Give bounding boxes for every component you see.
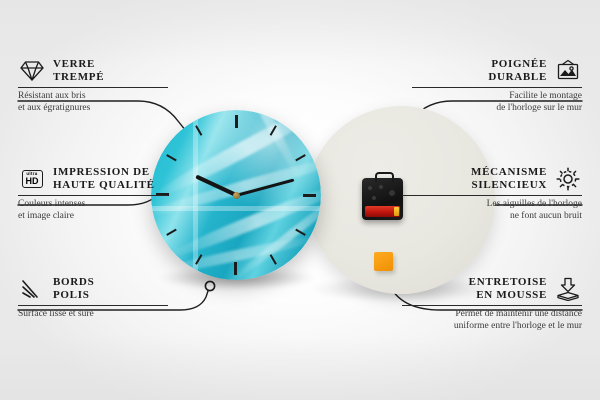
feature-entretoise-en-mousse: ENTRETOISE EN MOUSSE Permet de maintenir… xyxy=(402,276,582,332)
center-pin xyxy=(233,192,240,199)
feature-sub-line1: Les aiguilles de l'horloge xyxy=(487,199,582,209)
feature-mecanisme-silencieux: MÉCANISME SILENCIEUX Les aiguilles d xyxy=(402,166,582,222)
feature-sub-line2: ne font aucun bruit xyxy=(510,211,582,221)
feature-sub-line1: Surface lisse et sûre xyxy=(18,309,94,319)
divider xyxy=(402,195,582,196)
gear-icon xyxy=(554,166,582,192)
mechanism-detail xyxy=(366,184,399,204)
feature-title-line2: HAUTE QUALITÉ xyxy=(53,179,155,191)
feature-sub-line1: Permet de maintenir une distance xyxy=(455,309,582,319)
hour-mark xyxy=(236,194,321,196)
infographic-canvas: VERRE TREMPÉ Résistant aux bris et aux é… xyxy=(0,0,600,400)
feature-title-line2: EN MOUSSE xyxy=(476,289,547,301)
feature-title-line2: SILENCIEUX xyxy=(472,179,547,191)
feature-title-line1: VERRE xyxy=(53,58,95,70)
feature-bords-polis: BORDS POLIS Surface lisse et sûre xyxy=(18,276,168,321)
diamond-icon xyxy=(18,58,46,84)
framed-picture-hook-icon xyxy=(554,58,582,84)
battery-terminal xyxy=(394,207,399,216)
front-clock-body xyxy=(151,110,321,280)
feature-title-line1: ENTRETOISE xyxy=(469,276,547,288)
feature-sub-line2: uniforme entre l'horloge et le mur xyxy=(454,321,582,331)
clock-mechanism xyxy=(362,178,403,220)
feature-sub-line1: Résistant aux bris xyxy=(18,91,86,101)
feature-impression-haute-qualite: ultra HD IMPRESSION DE HAUTE QUALITÉ Cou… xyxy=(18,166,168,222)
polished-edges-icon xyxy=(18,276,46,302)
clock-face xyxy=(151,110,321,280)
feature-title-line1: BORDS xyxy=(53,276,94,288)
divider xyxy=(412,87,582,88)
feature-title-line2: DURABLE xyxy=(488,71,547,83)
foam-spacer xyxy=(374,252,393,271)
feature-verre-trempe: VERRE TREMPÉ Résistant aux bris et aux é… xyxy=(18,58,168,114)
feature-sub-line1: Facilite le montage xyxy=(509,91,582,101)
feature-title-line2: POLIS xyxy=(53,289,90,301)
feature-title-line2: TREMPÉ xyxy=(53,71,104,83)
feature-sub-line2: et image claire xyxy=(18,211,74,221)
divider xyxy=(18,195,168,196)
hour-mark xyxy=(235,110,237,195)
battery xyxy=(365,206,400,217)
feature-title-line1: POIGNÉE xyxy=(491,58,547,70)
feature-sub-line1: Couleurs intenses xyxy=(18,199,85,209)
feature-title-line1: MÉCANISME xyxy=(471,166,547,178)
divider xyxy=(18,305,168,306)
feature-sub-line2: de l'horloge sur le mur xyxy=(496,103,582,113)
feature-sub-line2: et aux égratignures xyxy=(18,103,90,113)
feature-poignee-durable: POIGNÉE DURABLE Facilite le montage de l… xyxy=(412,58,582,114)
ultra-hd-main-text: HD xyxy=(26,177,39,186)
divider xyxy=(18,87,168,88)
feature-title-line1: IMPRESSION DE xyxy=(53,166,150,178)
divider xyxy=(402,305,582,306)
ultra-hd-badge-icon: ultra HD xyxy=(18,166,46,192)
foam-spacer-arrow-icon xyxy=(554,276,582,302)
hour-mark xyxy=(235,195,237,280)
